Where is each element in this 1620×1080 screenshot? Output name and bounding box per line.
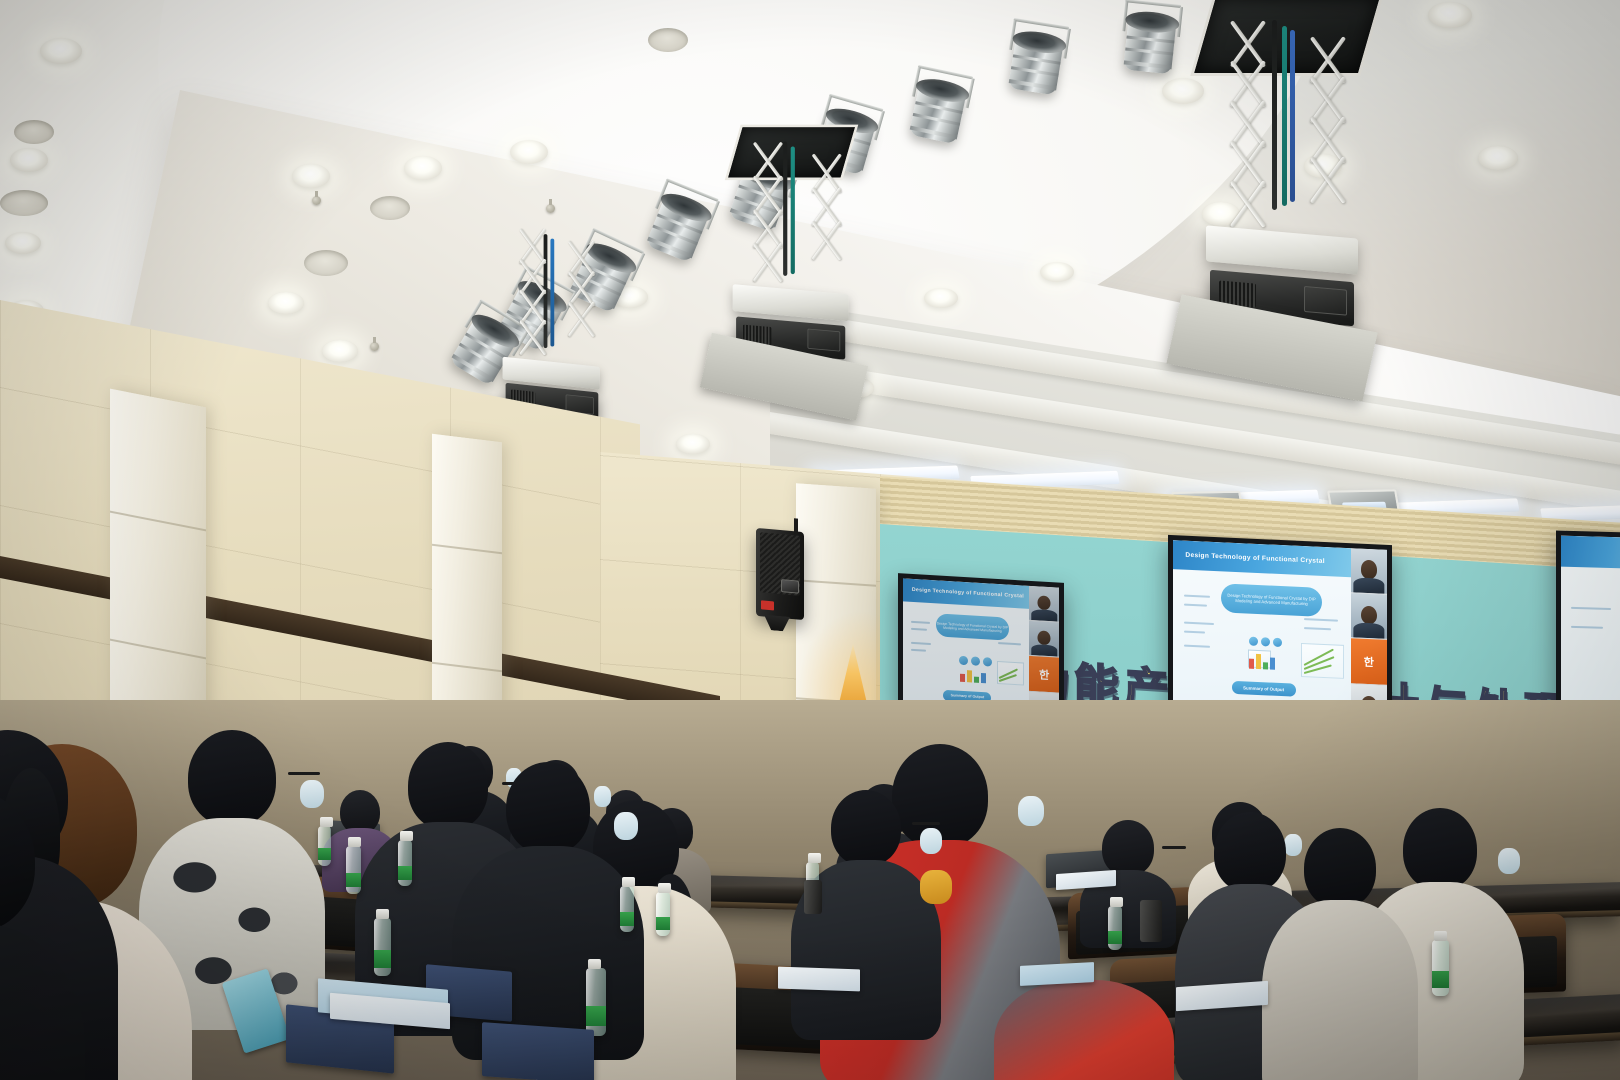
thermos-tumbler [804,880,822,914]
water-bottle [1432,940,1449,996]
sprinkler-head [370,342,379,351]
projector-cable [791,146,795,274]
recessed-downlight [0,190,48,216]
recessed-downlight [292,164,330,188]
remote-participant-tile [1029,586,1059,623]
water-bottle [1108,906,1122,950]
speaker-brand-logo [761,600,774,610]
remote-participant-tile [1351,548,1387,595]
conference-room-photo: 中韩功能产品智能设计与处理国际研讨会 Sino - Korea Internat… [0,0,1620,1080]
remote-participant-tile [1029,621,1059,658]
recessed-downlight [404,156,442,180]
recessed-downlight [40,38,82,64]
wall-mounted-loudspeaker [756,528,804,620]
recessed-downlight [1162,78,1204,104]
recessed-downlight [924,288,958,308]
recessed-downlight [510,140,548,164]
water-bottle [374,918,391,976]
water-bottle [318,826,331,866]
recessed-downlight [1478,146,1518,170]
document-sheet [1020,962,1094,986]
recessed-downlight [304,250,348,276]
track-spotlight [1008,33,1064,96]
water-bottle [398,840,412,886]
recessed-downlight [370,196,410,220]
remote-participant-tile [1351,593,1387,640]
projector-cable [1282,26,1287,206]
recessed-downlight [5,232,41,254]
slide-section-chip-center: Summary of Output [1243,685,1284,692]
korea-flag-tile [1351,639,1387,686]
track-spotlight [1123,14,1177,75]
recessed-downlight [268,292,304,314]
recessed-downlight [14,120,54,144]
sprinkler-head [546,204,555,213]
water-bottle [346,846,361,894]
korea-flag-tile [1029,656,1059,693]
recessed-downlight [648,28,688,52]
thermos-tumbler [1140,900,1162,942]
water-bottle [656,892,670,936]
conference-folder [482,1022,594,1080]
water-bottle [620,886,634,932]
recessed-downlight [1040,262,1074,282]
slide-header-title-center: Design Technology of Functional Crystal [1173,551,1325,565]
yellow-scarf [920,870,952,904]
recessed-downlight [322,340,358,362]
slide-header-title-left: Design Technology of Functional Crystal [903,587,1024,600]
recessed-downlight [10,148,48,172]
speaker-antenna-stub [794,518,798,532]
recessed-downlight [676,434,710,454]
ceiling-access-opening [1190,0,1384,76]
water-bottle [586,968,606,1036]
slide-section-chip-left: Summary of Output [951,694,985,700]
document-sheet [778,967,860,992]
sprinkler-head [312,196,321,205]
projector-cable [1290,30,1295,202]
speaker-horn [781,579,799,594]
recessed-downlight [1428,2,1472,28]
